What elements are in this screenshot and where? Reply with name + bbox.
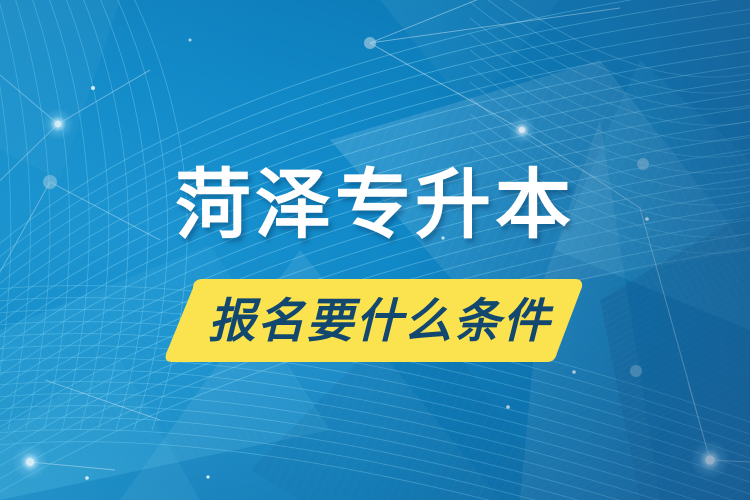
banner-title-text: 菏泽专升本: [175, 168, 575, 244]
banner-title: 菏泽专升本: [0, 168, 750, 244]
banner-subtitle-text: 报名要什么条件: [163, 277, 583, 364]
promo-banner: 菏泽专升本 报名要什么条件: [0, 0, 750, 500]
background-shade-left: [0, 0, 750, 500]
banner-subtitle-badge: 报名要什么条件: [163, 277, 583, 364]
